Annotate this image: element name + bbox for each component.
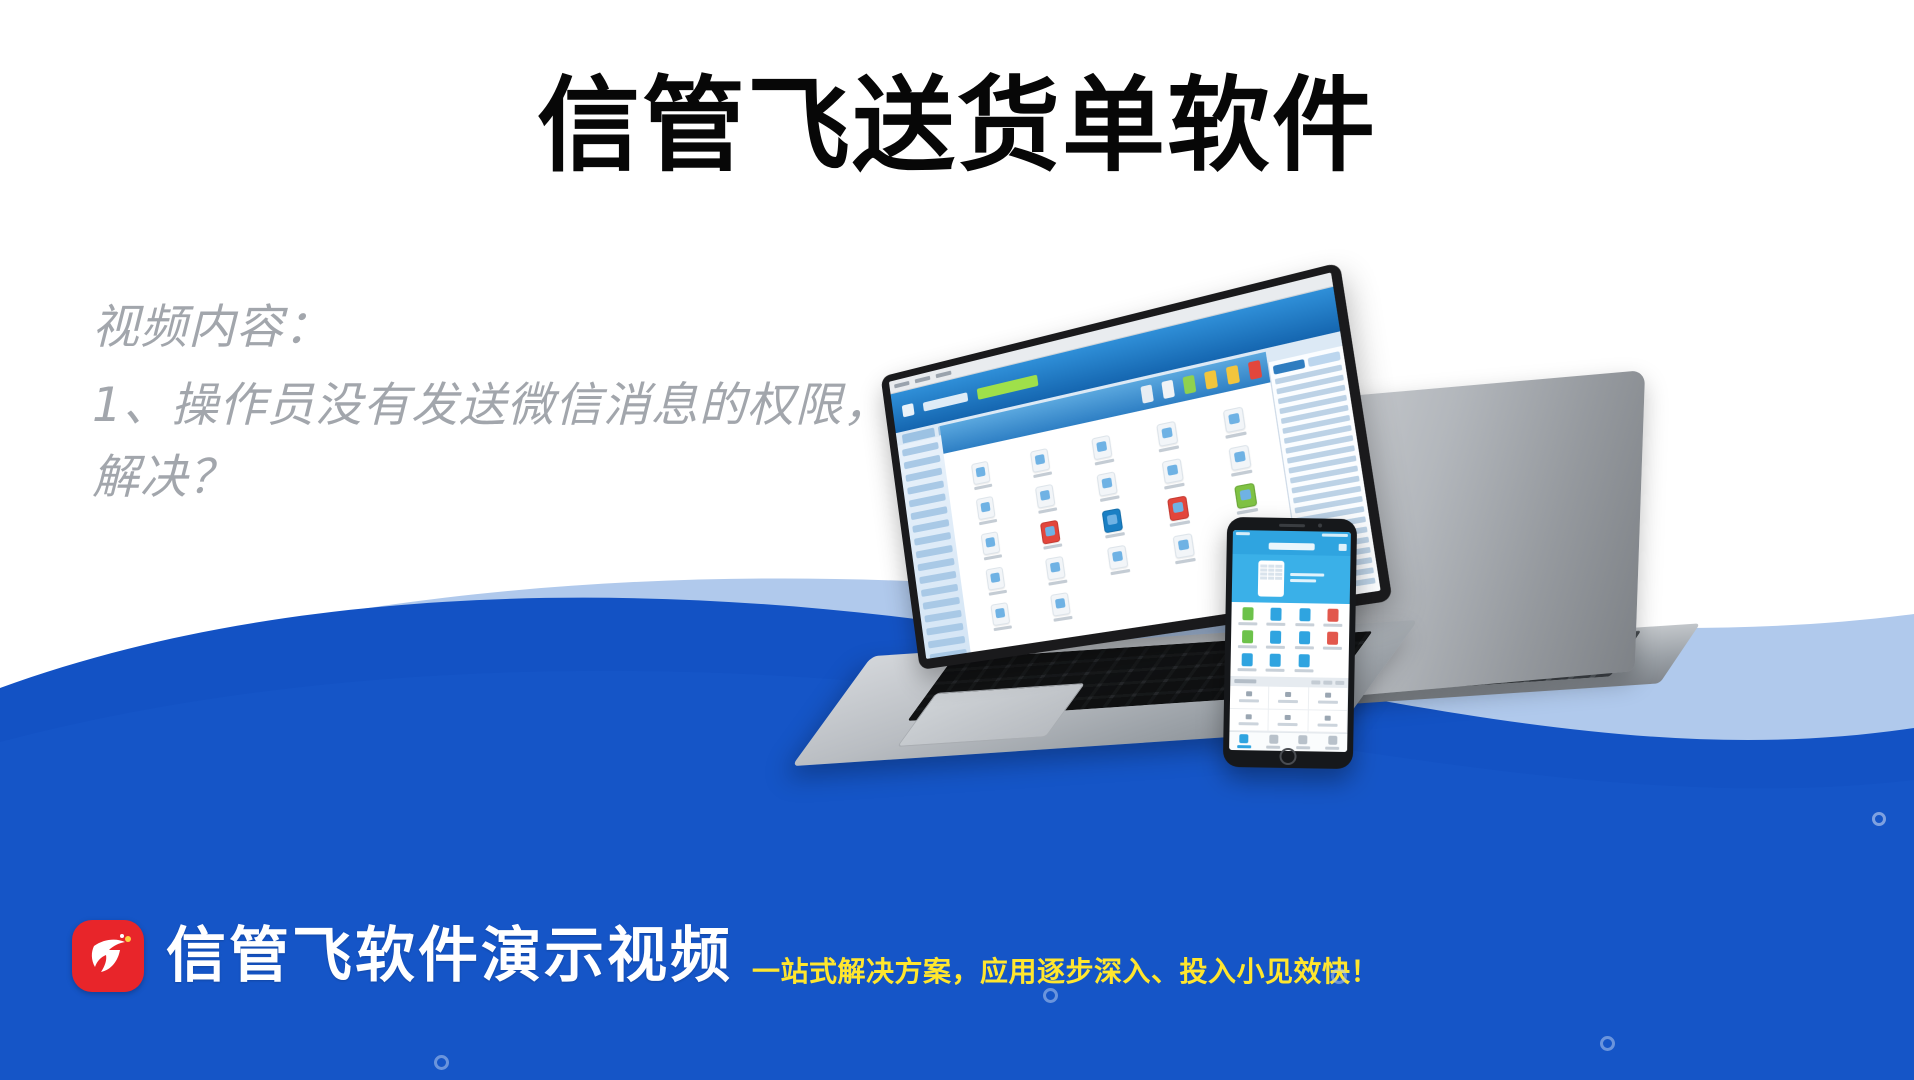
grid-icon — [976, 496, 996, 520]
shortcut-item[interactable] — [1234, 607, 1261, 625]
shortcut-label — [1266, 646, 1285, 649]
toolbar-icon — [1248, 360, 1262, 380]
device-mockup-cluster — [880, 370, 1914, 930]
shortcut-item[interactable] — [1262, 631, 1289, 649]
keypad-key — [1275, 573, 1282, 576]
grid-icon — [990, 602, 1010, 626]
grid-icon — [1269, 735, 1278, 744]
banner-text-lines — [1290, 573, 1324, 586]
person-icon — [1328, 736, 1337, 745]
sidebar-item — [914, 532, 951, 546]
status-indicators — [1322, 534, 1348, 537]
grid-label — [988, 590, 1006, 596]
nav-item-profile[interactable] — [1318, 734, 1348, 753]
keypad-key — [1275, 577, 1282, 580]
shortcut-icon — [1328, 609, 1339, 622]
keypad-key — [1276, 565, 1283, 568]
app-grid-item — [1078, 467, 1139, 505]
sidebar-item — [916, 545, 953, 559]
grid-label — [979, 519, 997, 525]
page-title: 信管飞送货单软件 — [0, 70, 1914, 182]
grid-label — [1105, 532, 1125, 539]
app-grid-item — [1202, 402, 1268, 443]
menu-item-placeholder — [915, 376, 931, 384]
shortcut-item[interactable] — [1291, 608, 1318, 626]
stat-label — [1278, 723, 1298, 726]
shortcut-item[interactable] — [1234, 653, 1261, 671]
shortcut-icon — [1241, 653, 1252, 666]
shortcut-label — [1295, 623, 1314, 626]
app-grid-item — [1147, 492, 1211, 531]
grid-label — [993, 625, 1011, 631]
keypad-key — [1268, 565, 1275, 568]
toolbar-icon — [1140, 384, 1153, 403]
shortcut-icon — [1242, 630, 1253, 643]
stat-cell — [1269, 687, 1309, 710]
app-grid-item — [953, 457, 1009, 494]
decorative-dot — [1600, 1036, 1615, 1051]
grid-icon — [1156, 421, 1178, 447]
stat-label — [1278, 700, 1298, 703]
sidebar-item — [926, 623, 964, 636]
grid-label — [1043, 543, 1062, 549]
stat-label — [1239, 722, 1259, 725]
decorative-dot — [1043, 988, 1058, 1003]
app-grid-item — [968, 563, 1025, 598]
grid-icon — [1097, 471, 1118, 497]
keypad-key — [1260, 576, 1267, 579]
app-grid-item — [1136, 416, 1199, 456]
phone-front-camera — [1318, 523, 1322, 527]
keypad-key — [1260, 568, 1267, 571]
stat-cell — [1269, 709, 1309, 732]
home-icon — [1239, 734, 1248, 743]
sidebar-item — [930, 649, 968, 659]
sidebar-item — [904, 455, 941, 470]
sidebar-item — [923, 597, 960, 610]
sidebar-item — [924, 610, 961, 623]
shortcut-label — [1238, 622, 1257, 625]
stats-range-filter[interactable] — [1311, 680, 1344, 685]
stat-value — [1324, 715, 1330, 720]
grid-icon — [1030, 448, 1050, 473]
app-grid-item — [1141, 454, 1204, 493]
sidebar-item — [919, 571, 956, 584]
sidebar-item — [921, 584, 958, 597]
app-grid-item — [958, 492, 1014, 528]
grid-icon — [971, 461, 991, 486]
shortcut-label — [1324, 624, 1343, 627]
app-grid-item — [973, 599, 1030, 634]
grid-icon — [1172, 533, 1194, 559]
app-logo-icon — [902, 403, 915, 417]
grid-label — [1175, 558, 1196, 565]
keypad-key — [1276, 569, 1283, 572]
app-grid-item — [1152, 529, 1216, 567]
grid-icon — [1234, 483, 1257, 510]
menu-item-placeholder — [936, 371, 952, 379]
grid-icon — [1223, 406, 1246, 433]
filter-option[interactable] — [1323, 681, 1332, 685]
shortcut-icon — [1299, 608, 1310, 621]
app-title-text — [1269, 543, 1315, 551]
grid-label — [983, 554, 1001, 560]
stat-label — [1317, 723, 1337, 726]
stat-cell — [1229, 708, 1269, 731]
toolbar-icon — [1161, 380, 1175, 399]
app-grid-item — [1083, 504, 1144, 542]
nav-label — [1296, 746, 1310, 749]
filter-option[interactable] — [1335, 681, 1344, 685]
stats-section-title — [1234, 679, 1256, 683]
sidebar-item — [907, 480, 944, 494]
grid-icon — [1167, 496, 1189, 522]
hamburger-menu-icon[interactable] — [1339, 544, 1347, 551]
grid-icon — [1228, 444, 1251, 471]
grid-icon — [1102, 508, 1123, 533]
nav-label — [1325, 747, 1339, 750]
phone-speaker — [1279, 524, 1305, 527]
banner-text-line — [1290, 579, 1316, 582]
shortcut-item[interactable] — [1320, 609, 1347, 627]
stat-label — [1318, 701, 1338, 704]
grid-label — [1100, 495, 1120, 502]
grid-icon — [1092, 435, 1113, 461]
shortcut-item[interactable] — [1291, 631, 1318, 649]
stats-grid — [1229, 686, 1348, 733]
stat-value — [1325, 693, 1331, 698]
shortcut-item[interactable] — [1290, 654, 1317, 672]
sidebar-item — [909, 493, 946, 507]
app-grid-item — [1012, 444, 1070, 482]
shortcut-label — [1266, 669, 1285, 672]
keypad-key — [1260, 572, 1267, 575]
shortcut-icon — [1299, 631, 1310, 644]
stat-value — [1246, 691, 1252, 696]
grid-label — [1237, 508, 1259, 515]
app-highlight-text — [977, 374, 1039, 399]
decorative-dot — [434, 1055, 449, 1070]
grid-label — [1038, 507, 1057, 514]
shortcut-item[interactable] — [1262, 654, 1289, 672]
stat-value — [1246, 714, 1252, 719]
shortcut-label — [1323, 647, 1342, 650]
shortcut-icon — [1271, 608, 1282, 621]
nav-item-home[interactable] — [1229, 732, 1259, 751]
shortcut-label — [1294, 669, 1313, 672]
toolbar-icon — [1204, 370, 1218, 390]
phone-home-button[interactable] — [1279, 748, 1296, 765]
filter-option[interactable] — [1311, 680, 1320, 684]
shortcut-item[interactable] — [1319, 632, 1346, 650]
brand-bar: 信管飞软件演示视频 — [72, 920, 733, 992]
shortcut-icon — [1270, 631, 1281, 644]
app-grid-item — [1017, 480, 1076, 517]
grid-label — [1048, 580, 1067, 586]
chart-icon — [1298, 735, 1307, 744]
menu-item-placeholder — [894, 381, 909, 389]
grid-icon — [1045, 556, 1066, 581]
sidebar-item — [912, 519, 949, 533]
grid-icon — [1050, 592, 1071, 617]
shortcut-label — [1238, 645, 1257, 648]
sidebar-item — [928, 636, 966, 649]
xinguanfei-logo-icon — [72, 920, 144, 992]
status-carrier — [1236, 532, 1250, 535]
grid-label — [1053, 616, 1072, 622]
app-brand-text — [923, 392, 969, 411]
stat-cell — [1308, 710, 1348, 733]
shortcut-item[interactable] — [1234, 630, 1261, 648]
smartphone — [1223, 517, 1357, 769]
grid-icon — [981, 531, 1001, 555]
stat-cell — [1308, 687, 1348, 710]
nav-label — [1266, 746, 1280, 749]
shortcut-icon — [1242, 607, 1253, 620]
keypad-key — [1260, 564, 1267, 567]
shortcut-label — [1237, 668, 1256, 671]
grid-icon — [1107, 545, 1129, 570]
shortcut-icon — [1327, 632, 1338, 645]
app-grid-item — [963, 528, 1019, 564]
brand-tagline: 一站式解决方案，应用逐步深入、投入小见效快！ — [752, 955, 1379, 989]
stat-value — [1285, 715, 1291, 720]
banner-keypad — [1260, 564, 1282, 579]
grid-label — [1170, 520, 1191, 527]
shortcut-icon — [1298, 654, 1309, 667]
shortcut-item[interactable] — [1263, 608, 1290, 626]
toolbar-icon — [1226, 365, 1240, 385]
brand-name-text: 信管飞软件演示视频 — [166, 924, 733, 988]
shortcut-icon — [1270, 654, 1281, 667]
app-grid-item — [1208, 440, 1274, 480]
sidebar-item — [902, 442, 939, 457]
banner-text-line — [1290, 573, 1324, 577]
sidebar-item — [905, 467, 942, 482]
app-banner — [1232, 554, 1351, 604]
stat-label — [1239, 699, 1259, 702]
sidebar-item — [917, 558, 954, 572]
app-grid-item — [1073, 430, 1134, 469]
banner-device-illustration — [1258, 560, 1285, 596]
decorative-dot — [1872, 812, 1886, 826]
app-title-bar — [1233, 537, 1351, 556]
grid-icon — [1035, 484, 1056, 509]
keypad-key — [1268, 577, 1275, 580]
toolbar-icon — [1183, 375, 1197, 395]
grid-icon — [986, 567, 1006, 591]
stat-cell — [1230, 686, 1270, 709]
app-grid-item — [1032, 589, 1091, 625]
decorative-dot — [1331, 968, 1347, 984]
shortcut-item-empty — [1319, 655, 1346, 673]
keypad-key — [1268, 573, 1275, 576]
app-grid-item — [1213, 479, 1279, 519]
grid-icon — [1040, 520, 1061, 545]
grid-label — [1110, 569, 1130, 575]
keypad-key — [1268, 569, 1275, 572]
sidebar-item — [910, 506, 947, 520]
grid-icon — [1161, 458, 1183, 484]
shortcut-label — [1267, 623, 1286, 626]
slide-canvas: 信管飞送货单软件 视频内容： 1、操作员没有发送微信消息的权限，如何 解决？ — [0, 0, 1914, 1080]
app-grid-item — [1022, 516, 1081, 553]
shortcut-label — [1295, 646, 1314, 649]
phone-screen-content — [1229, 530, 1351, 752]
stat-value — [1286, 692, 1292, 697]
app-shortcut-grid — [1230, 602, 1349, 678]
app-grid-item — [1027, 552, 1086, 588]
app-grid-item — [1088, 541, 1149, 578]
nav-label — [1237, 745, 1251, 748]
